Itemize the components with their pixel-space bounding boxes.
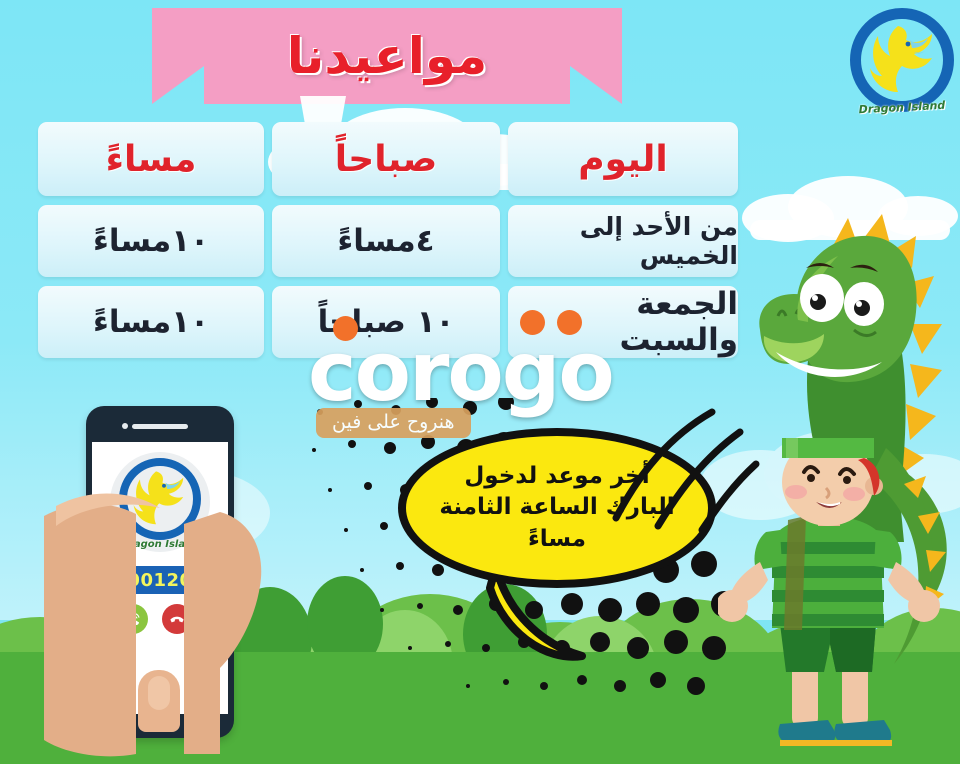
cell-day: من الأحد إلى الخميس bbox=[508, 205, 738, 277]
header-label-day: اليوم bbox=[578, 139, 668, 180]
poster-canvas: أخر موعد لدخول البارك الساعة الثامنة مسا… bbox=[0, 0, 960, 764]
brand-logo: Dragon Island bbox=[846, 6, 958, 118]
header-cell-evening: مساءً bbox=[38, 122, 264, 196]
phone-illustration: Dragon Island 01200120015 bbox=[44, 398, 284, 764]
watermark-tagline: هنروح على فين bbox=[316, 408, 471, 438]
watermark-dot bbox=[557, 310, 582, 335]
cell-day-text: من الأحد إلى الخميس bbox=[508, 212, 738, 270]
cell-evening: ١٠مساءً bbox=[38, 286, 264, 358]
watermark-text: corogo bbox=[308, 332, 648, 414]
brand-logo-label: Dragon Island bbox=[846, 98, 959, 117]
cell-evening-text: ١٠مساءً bbox=[93, 223, 209, 259]
header-label-evening: مساءً bbox=[106, 139, 197, 180]
thumb-nail bbox=[148, 676, 170, 710]
phone-camera-icon bbox=[122, 423, 128, 429]
cell-evening: ١٠مساءً bbox=[38, 205, 264, 277]
dragon-head-icon bbox=[868, 22, 938, 94]
watermark-dot bbox=[333, 316, 358, 341]
watermark: corogo هنروح على فين bbox=[308, 332, 648, 442]
cell-morning-text: ٤مساءً bbox=[337, 223, 434, 259]
watermark-dot bbox=[520, 310, 545, 335]
header-label-morning: صباحاً bbox=[335, 139, 437, 180]
title-ribbon: مواعيدنا bbox=[152, 8, 622, 114]
cell-morning: ٤مساءً bbox=[272, 205, 500, 277]
table-header-row: اليوم صباحاً مساءً bbox=[38, 122, 738, 196]
table-row: من الأحد إلى الخميس ٤مساءً ١٠مساءً bbox=[38, 205, 738, 277]
phone-speaker bbox=[132, 424, 188, 429]
header-cell-morning: صباحاً bbox=[272, 122, 500, 196]
header-cell-day: اليوم bbox=[508, 122, 738, 196]
cell-evening-text: ١٠مساءً bbox=[93, 304, 209, 340]
page-title: مواعيدنا bbox=[152, 8, 622, 104]
